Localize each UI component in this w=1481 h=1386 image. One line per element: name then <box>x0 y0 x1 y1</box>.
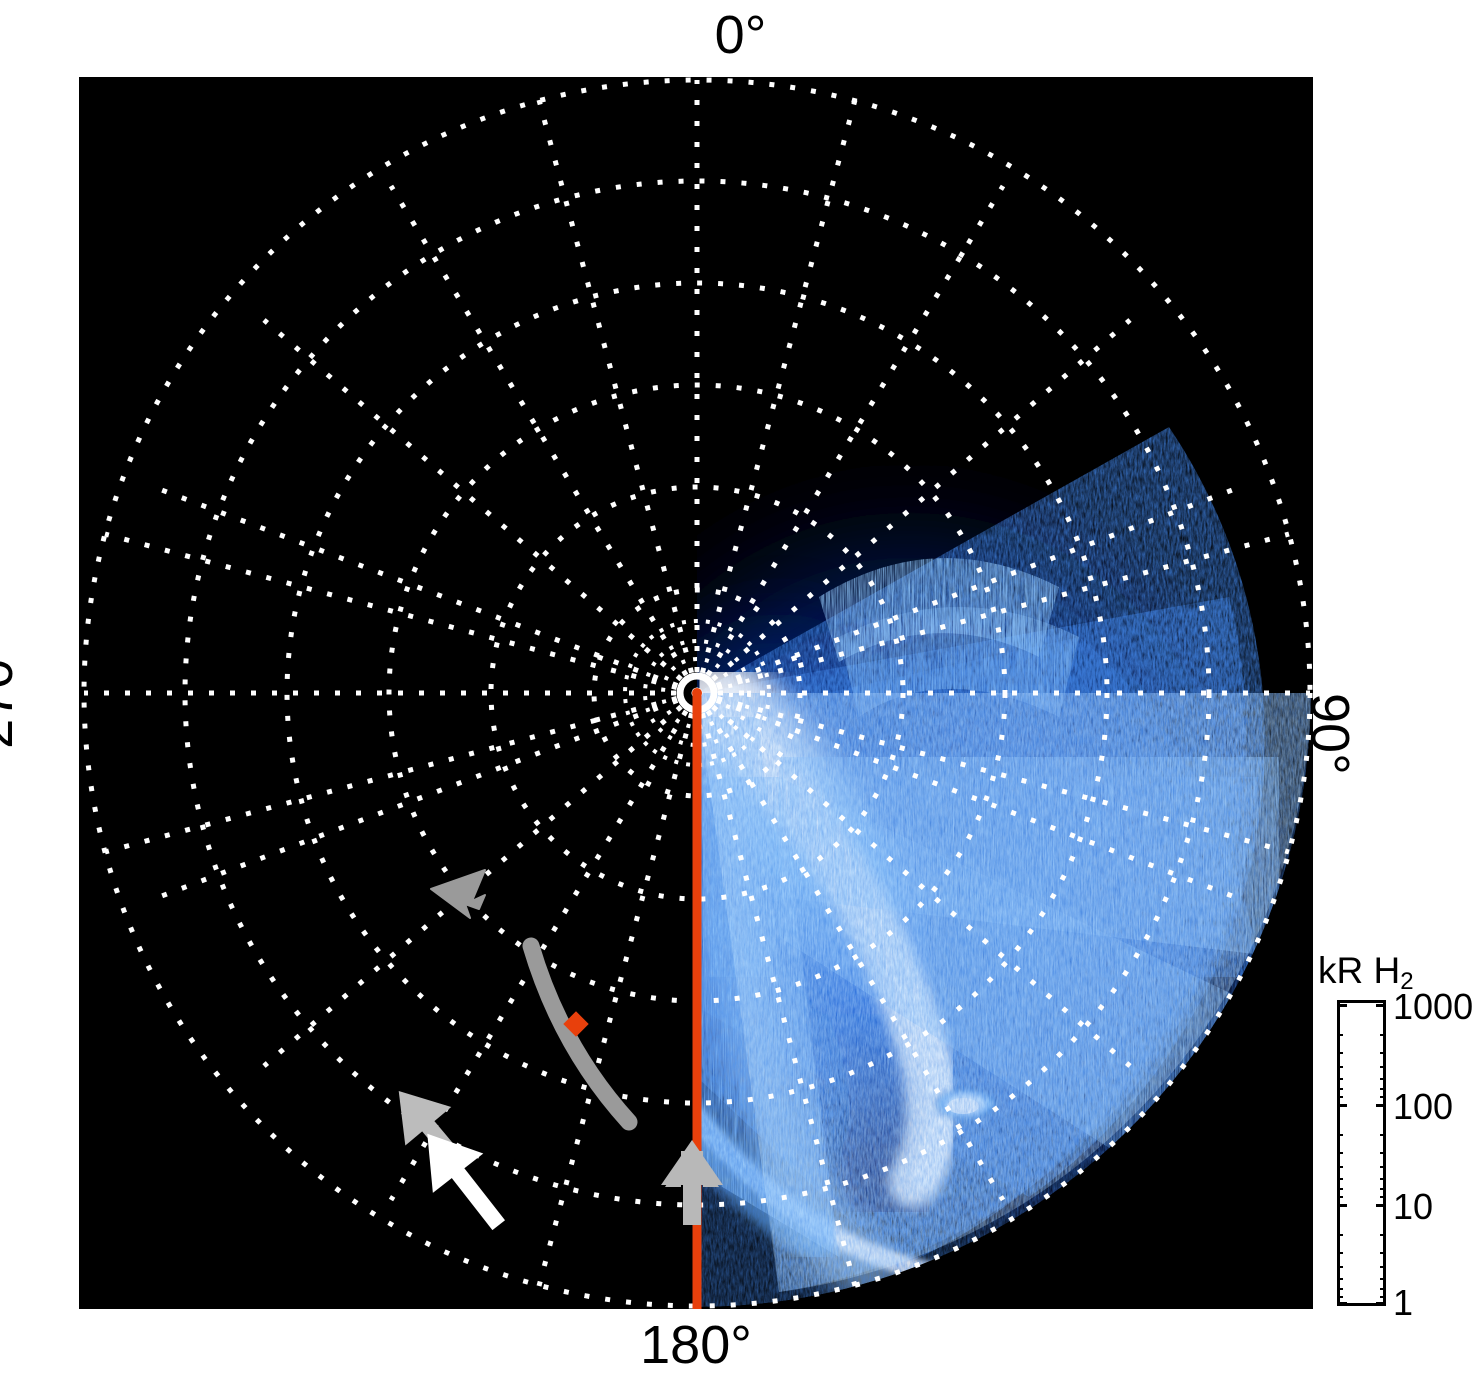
colorbar-label-10: 10 <box>1393 1186 1433 1228</box>
colorbar-tick-1 <box>1337 1302 1347 1305</box>
colorbar-minor-tick <box>1380 1166 1386 1168</box>
colorbar-minor-tick <box>1380 1088 1386 1090</box>
colorbar-minor-tick <box>1337 1296 1343 1298</box>
axis-label-bottom: 180° <box>0 1318 1392 1372</box>
colorbar-minor-tick <box>1380 1178 1386 1180</box>
colorbar-tick-1-right <box>1376 1302 1386 1305</box>
colorbar-minor-tick <box>1337 1234 1343 1236</box>
colorbar-label-100: 100 <box>1393 1086 1453 1128</box>
white-arrow-spot-icon <box>402 1114 524 1245</box>
colorbar-minor-tick <box>1380 1196 1386 1198</box>
colorbar-minor-tick <box>1380 1296 1386 1298</box>
colorbar-title-main: kR H <box>1318 950 1400 991</box>
colorbar-minor-tick <box>1380 1096 1386 1098</box>
axis-label-right: 90° <box>1303 693 1357 775</box>
colorbar-minor-tick <box>1337 1066 1343 1068</box>
colorbar-minor-tick <box>1380 1052 1386 1054</box>
colorbar-minor-tick <box>1337 1078 1343 1080</box>
colorbar-tick-10 <box>1337 1204 1347 1207</box>
colorbar-minor-tick <box>1337 1152 1343 1154</box>
axis-label-top: 0° <box>0 8 1481 62</box>
colorbar-minor-tick <box>1380 1278 1386 1280</box>
colorbar-minor-tick <box>1380 1066 1386 1068</box>
colorbar-tick-100-right <box>1376 1104 1386 1107</box>
colorbar-label-1000: 1000 <box>1393 986 1473 1028</box>
colorbar-minor-tick <box>1380 1234 1386 1236</box>
colorbar-minor-tick <box>1337 1196 1343 1198</box>
colorbar-minor-tick <box>1380 1134 1386 1136</box>
polar-plot-svg <box>79 77 1313 1309</box>
colorbar-tick-1000-right <box>1376 1004 1386 1007</box>
colorbar-minor-tick <box>1337 1266 1343 1268</box>
colorbar-minor-tick <box>1380 1288 1386 1290</box>
colorbar-minor-tick <box>1380 1078 1386 1080</box>
colorbar-tick-1000 <box>1337 1004 1347 1007</box>
colorbar-minor-tick <box>1337 1134 1343 1136</box>
polar-plot-area[interactable] <box>79 77 1313 1309</box>
colorbar-minor-tick <box>1337 1252 1343 1254</box>
colorbar-tick-10-right <box>1376 1204 1386 1207</box>
colorbar-minor-tick <box>1380 1152 1386 1154</box>
gray-arrow-spot-icon <box>341 537 477 1176</box>
colorbar-minor-tick <box>1380 1266 1386 1268</box>
colorbar-minor-tick <box>1337 1278 1343 1280</box>
colorbar-label-1: 1 <box>1393 1282 1413 1324</box>
gray-arrow-upper-left-icon <box>431 870 485 918</box>
aurora-emission-layer <box>509 427 1311 1307</box>
figure-canvas: 0° 180° 270° 90° kR H2 1000 100 <box>0 0 1481 1386</box>
colorbar-minor-tick <box>1337 1178 1343 1180</box>
colorbar-minor-tick <box>1337 1096 1343 1098</box>
colorbar-minor-tick <box>1380 1252 1386 1254</box>
colorbar-minor-tick <box>1337 1088 1343 1090</box>
colorbar-minor-tick <box>1337 1166 1343 1168</box>
colorbar-tick-100 <box>1337 1104 1347 1107</box>
colorbar-gradient[interactable] <box>1337 1000 1386 1306</box>
colorbar-minor-tick <box>1380 1034 1386 1036</box>
colorbar-minor-tick <box>1337 1288 1343 1290</box>
colorbar-minor-tick <box>1380 1188 1386 1190</box>
colorbar-minor-tick <box>1337 1034 1343 1036</box>
colorbar-minor-tick <box>1337 1052 1343 1054</box>
colorbar-minor-tick <box>1337 1188 1343 1190</box>
annotation-gray-arc <box>531 946 629 1122</box>
axis-label-left: 270° <box>0 637 21 749</box>
